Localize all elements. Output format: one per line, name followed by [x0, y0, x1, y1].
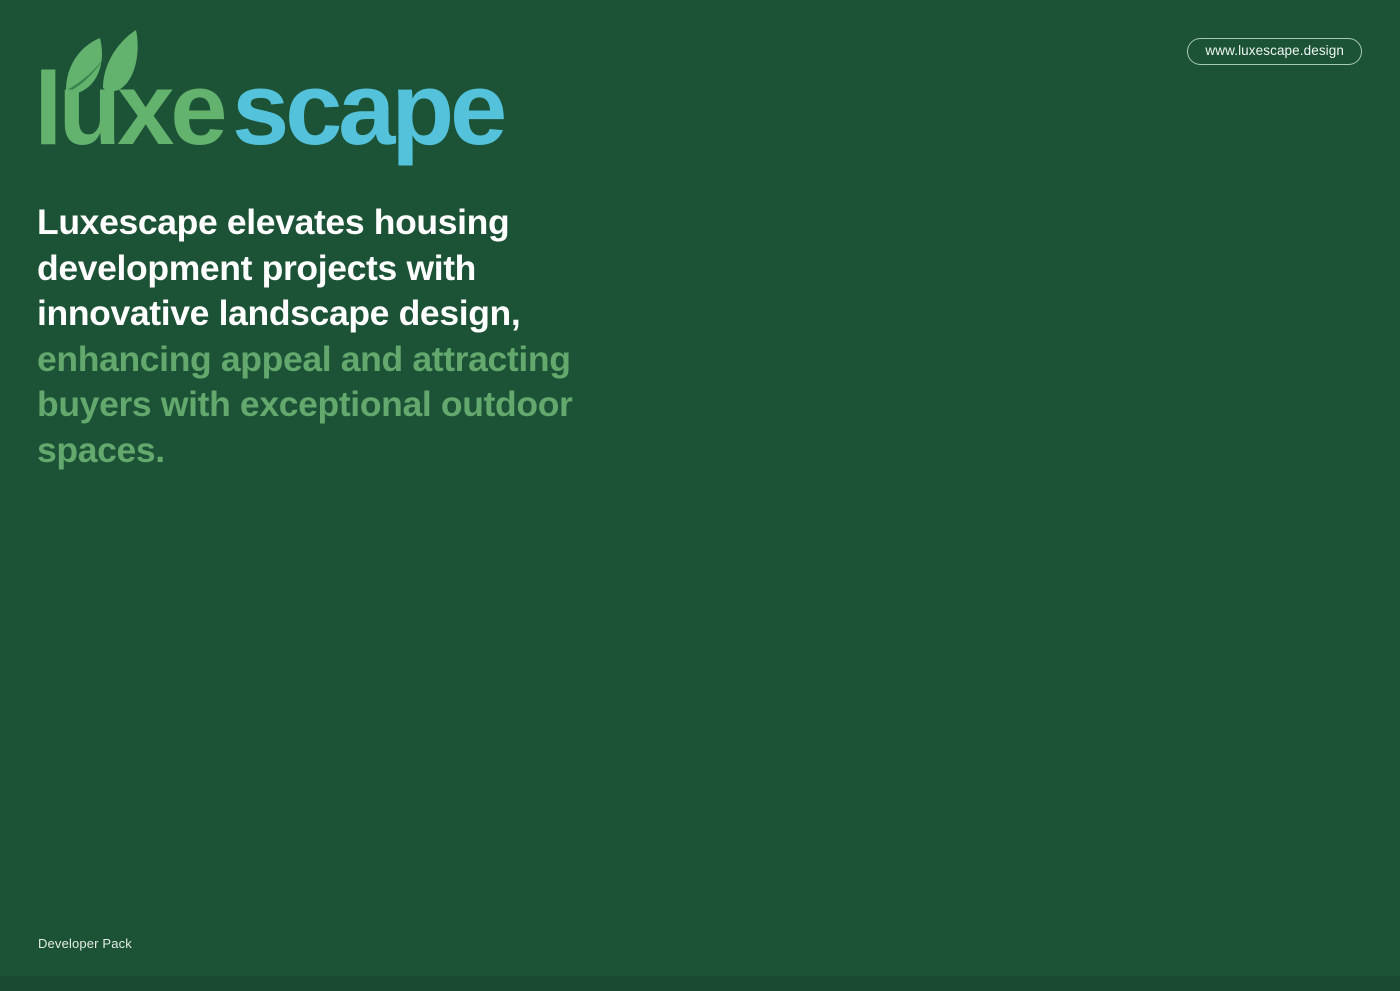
subhead-line-1: enhancing appeal and attracting [37, 337, 677, 383]
logo-text-scape: scape [232, 51, 504, 166]
subhead-line-2: buyers with exceptional outdoor [37, 382, 677, 428]
footer-document-label: Developer Pack [38, 936, 132, 951]
slide-canvas: www.luxescape.design luxe scape Luxescap… [0, 0, 1400, 991]
headline-line-2: development projects with [37, 246, 677, 292]
luxescape-logo[interactable]: luxe scape [36, 26, 556, 176]
bottom-accent-band [0, 976, 1400, 991]
logo-text-luxe: luxe [34, 51, 224, 166]
headline-line-1: Luxescape elevates housing [37, 200, 677, 246]
website-url-badge[interactable]: www.luxescape.design [1187, 38, 1362, 65]
headline-block: Luxescape elevates housing development p… [37, 200, 677, 473]
headline-line-3: innovative landscape design, [37, 291, 677, 337]
logo-artwork: luxe scape [36, 26, 556, 176]
subhead-line-3: spaces. [37, 428, 677, 474]
